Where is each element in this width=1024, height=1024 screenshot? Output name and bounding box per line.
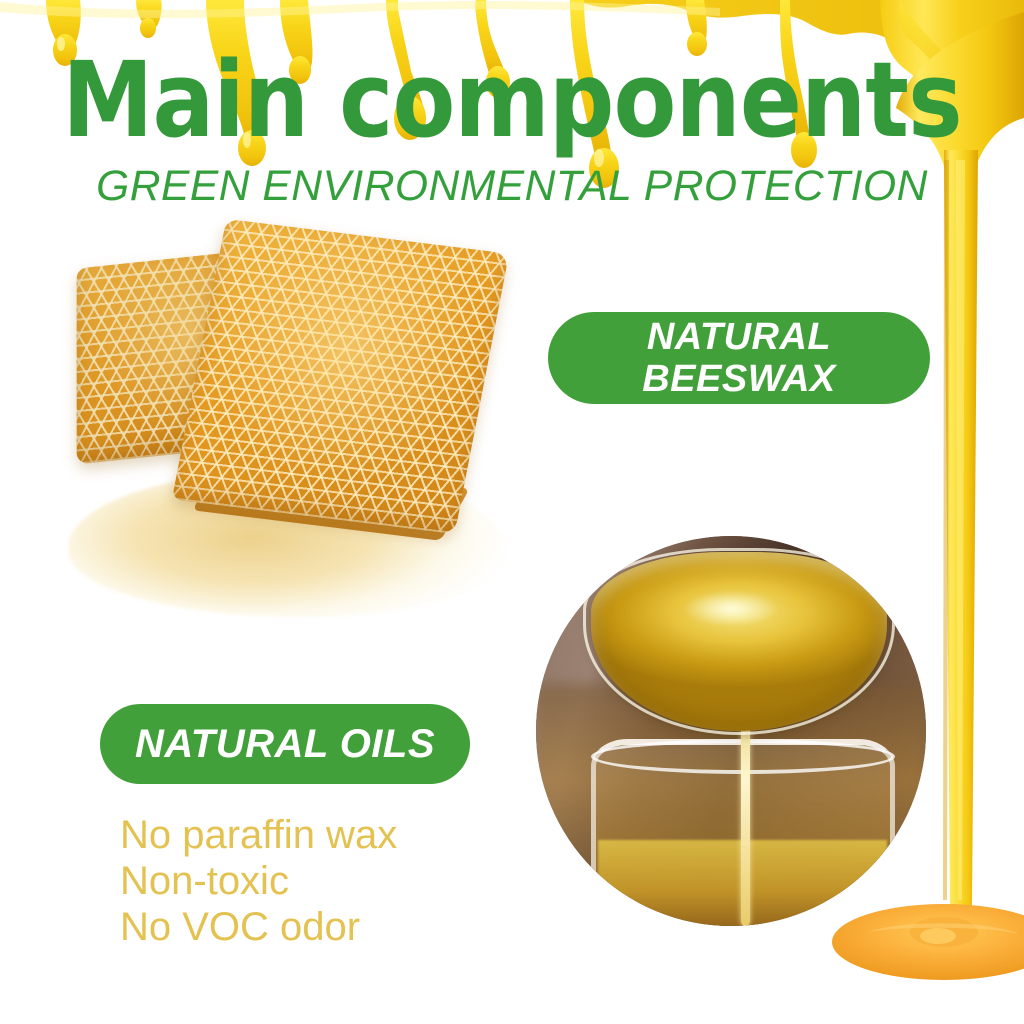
badge-natural-beeswax: NATURAL BEESWAX	[548, 312, 930, 404]
feature-list: No paraffin wax Non-toxic No VOC odor	[120, 812, 580, 950]
product-poster: Main components GREEN ENVIRONMENTAL PROT…	[0, 0, 1024, 1024]
honeycomb-image	[58, 222, 528, 622]
badge-natural-oils-label: NATURAL OILS	[135, 722, 435, 767]
page-subtitle: GREEN ENVIRONMENTAL PROTECTION	[5, 162, 1019, 210]
badge-natural-oils: NATURAL OILS	[100, 704, 470, 784]
badge-natural-beeswax-line2: BEESWAX	[642, 358, 836, 400]
page-title: Main components	[61, 48, 962, 152]
honeycomb-block-front	[172, 219, 509, 534]
feature-item: No VOC odor	[120, 904, 580, 950]
oil-spoon-highlight	[684, 591, 778, 626]
feature-item: No paraffin wax	[120, 812, 580, 858]
oil-image	[536, 536, 926, 926]
feature-item: Non-toxic	[120, 858, 580, 904]
badge-natural-beeswax-line1: NATURAL	[647, 316, 831, 358]
